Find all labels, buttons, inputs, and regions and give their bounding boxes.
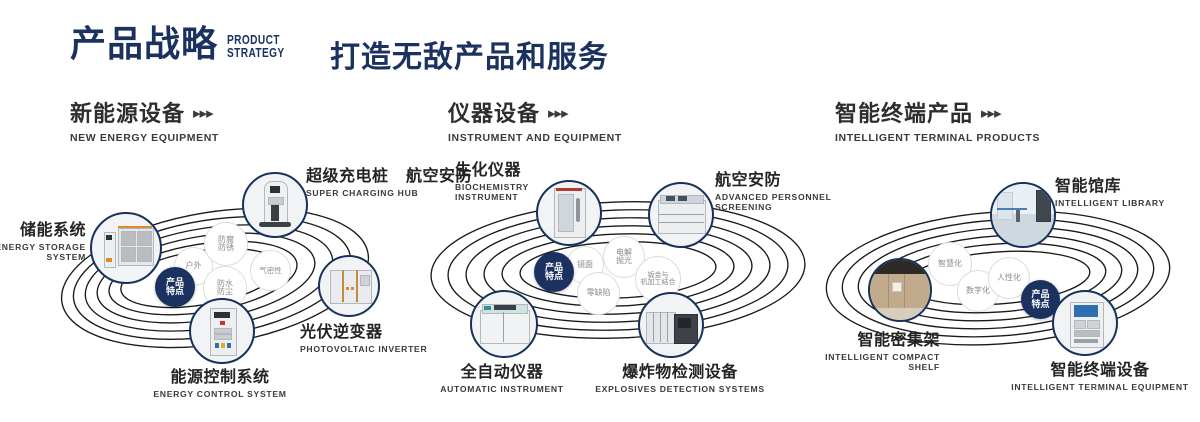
node-intelligent-compact-shelf[interactable]	[868, 258, 932, 322]
caption-cn: 能源控制系统	[110, 363, 330, 387]
section-title-cn: 仪器设备	[448, 96, 540, 128]
core-bubble-product-features: 产品 特点	[534, 252, 574, 292]
caption-cn: 全自动仪器	[422, 358, 582, 382]
feature-bubble: 气密性	[250, 250, 291, 291]
node-photovoltaic-inverter[interactable]	[318, 255, 380, 317]
core-label-line2: 特点	[545, 272, 563, 281]
page-title-en: PRODUCT STRATEGY	[227, 33, 285, 59]
feature-label: 防水 防尘	[217, 280, 233, 297]
page-title-cn: 产品战略	[70, 26, 218, 62]
section-title-cn: 智能终端产品	[835, 96, 973, 128]
node-super-charging-hub[interactable]	[242, 172, 308, 238]
caption-energy-storage-system: 储能系统 ENERGY STORAGE SYSTEM	[0, 216, 86, 262]
feature-label: 钣金与 机加工结合	[641, 272, 676, 287]
caption-en: INTELLIGENT COMPACT SHELF	[780, 352, 940, 372]
energy-control-artwork	[191, 300, 253, 362]
caption-en: INTELLIGENT LIBRARY	[1055, 198, 1200, 208]
node-energy-control-system[interactable]	[189, 298, 255, 364]
section-title-en: NEW ENERGY EQUIPMENT	[70, 132, 219, 144]
caption-en: INTELLIGENT TERMINAL EQUIPMENT	[1000, 382, 1200, 392]
node-energy-storage-system[interactable]	[90, 212, 162, 284]
cluster-instrument: 镜面 电解 抛光 零缺陷 钣金与 机加工结合 产品 特点 生化仪器 BIOCHE…	[410, 150, 830, 400]
caption-cn: 智能馆库	[1055, 172, 1200, 196]
caption-en: EXPLOSIVES DETECTION SYSTEMS	[590, 384, 770, 394]
section-title-new-energy: 新能源设备▸▸▸ NEW ENERGY EQUIPMENT	[70, 96, 219, 144]
compact-shelf-artwork	[870, 260, 930, 320]
caption-cn: 航空安防	[406, 162, 496, 186]
chevrons-icon: ▸▸▸	[548, 104, 568, 122]
caption-cn: 智能终端设备	[1000, 356, 1200, 380]
feature-bubble: 防腐 防锈	[204, 222, 248, 266]
chevrons-icon: ▸▸▸	[193, 104, 213, 122]
caption-en: AUTOMATIC INSTRUMENT	[422, 384, 582, 394]
node-intelligent-terminal-equipment[interactable]	[1052, 290, 1118, 356]
feature-label: 电解 抛光	[616, 249, 632, 266]
feature-label: 零缺陷	[587, 289, 611, 297]
cluster-new-energy: 户外 防腐 防锈 防水 防尘 气密性 产品 特点 储	[0, 150, 420, 400]
feature-label: 镜面	[577, 261, 593, 269]
charging-hub-artwork	[244, 174, 306, 236]
caption-cn: 爆炸物检测设备	[590, 358, 770, 382]
intelligent-library-artwork	[992, 184, 1054, 246]
feature-label: 防腐 防锈	[218, 236, 234, 253]
caption-intelligent-compact-shelf: 智能密集架 INTELLIGENT COMPACT SHELF	[780, 326, 940, 372]
feature-label: 户外	[186, 262, 202, 270]
caption-energy-control-system: 能源控制系统 ENERGY CONTROL SYSTEM	[110, 363, 330, 399]
cluster-intelligent-terminal: 智慧化 数字化 人性化 产品 特点 智能馆库 INTELLIGENT LIBRA…	[800, 150, 1200, 400]
screening-artwork	[650, 184, 712, 246]
energy-storage-artwork	[92, 214, 160, 282]
feature-label: 气密性	[259, 267, 282, 275]
feature-label: 智慧化	[938, 260, 962, 268]
section-title-instrument: 仪器设备▸▸▸ INSTRUMENT AND EQUIPMENT	[448, 96, 622, 144]
feature-label: 人性化	[997, 274, 1021, 282]
feature-bubble: 零缺陷	[577, 272, 620, 315]
caption-intelligent-library: 智能馆库 INTELLIGENT LIBRARY	[1055, 172, 1200, 208]
page-title: 产品战略 PRODUCT STRATEGY	[70, 26, 301, 62]
feature-label: 数字化	[966, 287, 990, 295]
node-intelligent-library[interactable]	[990, 182, 1056, 248]
automatic-instrument-artwork	[472, 292, 536, 356]
node-advanced-personnel-screening[interactable]	[648, 182, 714, 248]
caption-automatic-instrument: 全自动仪器 AUTOMATIC INSTRUMENT	[422, 358, 582, 394]
section-title-en: INSTRUMENT AND EQUIPMENT	[448, 132, 622, 144]
node-explosives-detection-systems[interactable]	[638, 292, 704, 358]
section-title-cn: 新能源设备	[70, 96, 185, 128]
caption-aviation-security: 航空安防	[406, 162, 496, 186]
page-slogan: 打造无敌产品和服务	[330, 32, 609, 76]
caption-intelligent-terminal-equipment: 智能终端设备 INTELLIGENT TERMINAL EQUIPMENT	[1000, 356, 1200, 392]
explosives-detection-artwork	[640, 294, 702, 356]
section-title-en: INTELLIGENT TERMINAL PRODUCTS	[835, 132, 1040, 144]
caption-cn: 智能密集架	[780, 326, 940, 350]
core-label-line2: 特点	[1031, 300, 1049, 309]
slide-canvas: 产品战略 PRODUCT STRATEGY 打造无敌产品和服务 新能源设备▸▸▸…	[0, 0, 1200, 422]
caption-en: ENERGY CONTROL SYSTEM	[110, 389, 330, 399]
caption-en: ENERGY STORAGE SYSTEM	[0, 242, 86, 262]
core-label-line2: 特点	[166, 287, 184, 296]
core-bubble-product-features: 产品 特点	[155, 267, 195, 307]
pv-inverter-artwork	[320, 257, 378, 315]
section-title-intelligent: 智能终端产品▸▸▸ INTELLIGENT TERMINAL PRODUCTS	[835, 96, 1040, 144]
terminal-equipment-artwork	[1054, 292, 1116, 354]
caption-explosives-detection-systems: 爆炸物检测设备 EXPLOSIVES DETECTION SYSTEMS	[590, 358, 770, 394]
chevrons-icon: ▸▸▸	[981, 104, 1001, 122]
node-automatic-instrument[interactable]	[470, 290, 538, 358]
caption-cn: 储能系统	[0, 216, 86, 240]
